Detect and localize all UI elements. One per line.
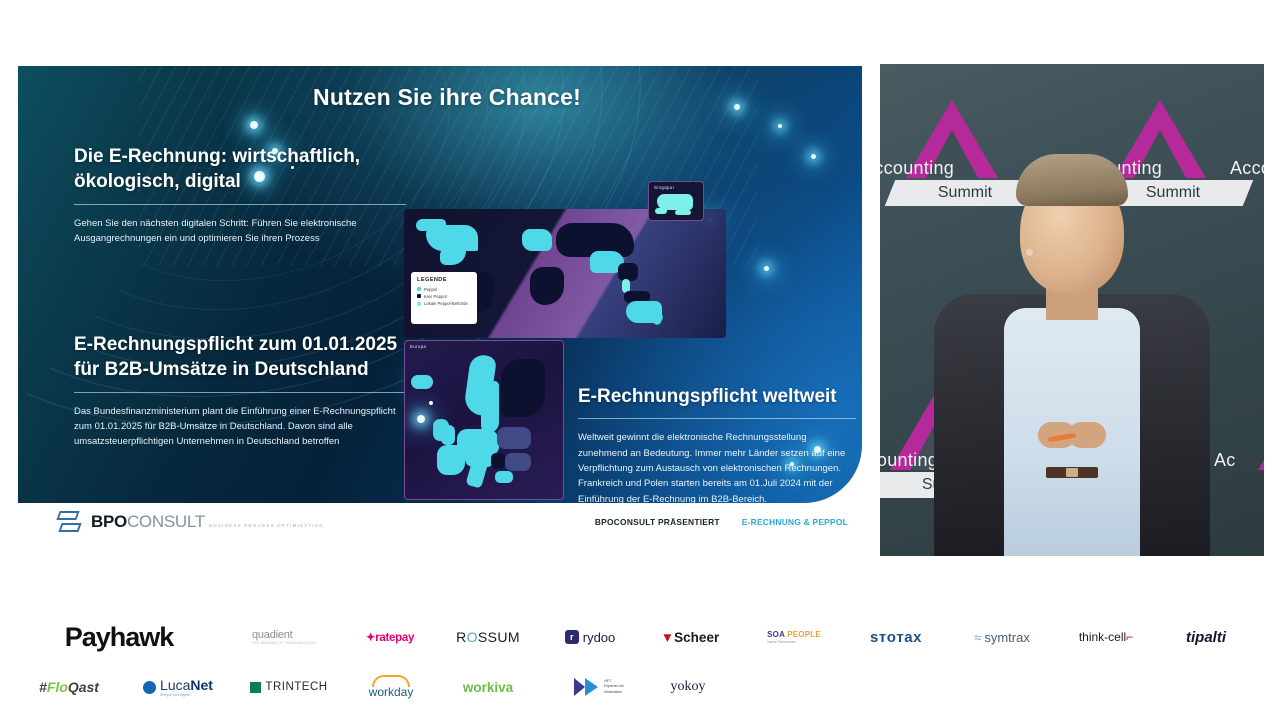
thinkcell-mark-icon: ⌐ — [1126, 630, 1133, 644]
map-label: Singapur — [654, 185, 674, 190]
scheer-mark-icon: ▼ — [661, 630, 674, 645]
glow-dot — [764, 266, 769, 271]
sponsor-label: tipalti — [1186, 629, 1226, 646]
sponsor-logo-workday[interactable]: workday — [342, 660, 440, 714]
block-heading: Die E-Rechnung: wirtschaftlich, ökologis… — [74, 144, 406, 195]
sponsor-label: think-cell — [1079, 630, 1126, 644]
slide-footer-meta: BPOCONSULT PRÄSENTIERT E-RECHNUNG & PEPP… — [595, 517, 848, 527]
accounting-summit-logo: Ac — [1220, 392, 1264, 502]
singapore-inset-map: Singapur — [648, 181, 704, 221]
block-heading: E-Rechnungspflicht weltweit — [578, 384, 856, 409]
sponsor-label: rydoo — [583, 630, 616, 645]
sponsor-sublabel: THE MEANING OF COMMUNICATION — [252, 641, 316, 645]
sponsor-logo-tipalti[interactable]: tipalti — [1158, 610, 1254, 664]
backdrop-brand-line1: Accounting — [1230, 158, 1264, 179]
sponsor-logo-think-cell[interactable]: think-cell⌐ — [1056, 610, 1156, 664]
sponsor-logo-payhawk[interactable]: Payhawk — [44, 610, 194, 664]
backdrop-brand-line1: Accounting — [880, 158, 954, 179]
backdrop-brand-line1: Accounting — [880, 450, 938, 471]
rydoo-mark-icon: r — [565, 630, 579, 644]
speaker-hair — [1016, 154, 1128, 206]
block-body: Gehen Sie den nächsten digitalen Schritt… — [74, 216, 406, 247]
sponsor-logo-scheer[interactable]: ▼Scheer — [640, 610, 740, 664]
sponsor-label: workiva — [463, 680, 513, 695]
glow-dot — [250, 121, 258, 129]
backdrop-brand-line1: Ac — [1214, 450, 1236, 471]
sponsor-sublabel: Experten für — [604, 684, 624, 688]
sponsor-logo-rydoo[interactable]: r rydoo — [540, 610, 640, 664]
slide-block-wirtschaftlich: Die E-Rechnung: wirtschaftlich, ökologis… — [74, 144, 406, 246]
europe-inset-map: Europa — [404, 340, 564, 500]
symtrax-mark-icon: ≈ — [974, 630, 981, 645]
sponsor-sublabel: Information — [604, 690, 622, 694]
logo-tagline: BUSINESS PROCESS OPTIMIZATION — [209, 523, 324, 528]
bpoconsult-logo: BPOCONSULT BUSINESS PROCESS OPTIMIZATION — [58, 509, 324, 535]
sponsor-logo-floqast[interactable]: #FloQast — [14, 660, 124, 714]
map-label: Europa — [410, 344, 426, 349]
sponsor-logo-wall: Payhawk quadient THE MEANING OF COMMUNIC… — [0, 600, 1280, 720]
sponsor-label: sтoтax — [870, 629, 922, 646]
sponsor-label: SOA — [767, 630, 787, 639]
sponsor-row-2: #FloQast LucaNet Simply intelligent. TRI… — [0, 660, 1280, 714]
slide-block-erechnungspflicht-de: E-Rechnungspflicht zum 01.01.2025 für B2… — [74, 332, 406, 450]
divider — [578, 418, 856, 419]
glow-dot — [811, 154, 816, 159]
lucanet-mark-icon — [143, 681, 156, 694]
sponsor-logo-rossum[interactable]: ROSSUM — [440, 610, 536, 664]
presentation-slide: Nutzen Sie ihre Chance! Die E-Rechnung: … — [18, 66, 862, 556]
legend-label: Peppol — [424, 287, 437, 292]
legend-label: Lokale Peppol-Behörde — [424, 301, 468, 306]
sponsor-label: Qast — [68, 679, 99, 695]
legend-swatch-icon — [417, 294, 421, 298]
legend-item: Kein Peppol — [417, 294, 471, 299]
screen-root: Nutzen Sie ihre Chance! Die E-Rechnung: … — [0, 0, 1280, 720]
sponsor-label: workday — [369, 685, 414, 699]
legend-swatch-icon — [417, 287, 421, 291]
legend-item: Peppol — [417, 287, 471, 292]
slide-canvas: Nutzen Sie ihre Chance! Die E-Rechnung: … — [18, 66, 862, 503]
logo-text-secondary: CONSULT — [127, 512, 205, 531]
trintech-mark-icon — [250, 682, 261, 693]
sponsor-logo-yokoy[interactable]: yokoy — [640, 660, 736, 714]
sponsor-label-accent: Flo — [47, 679, 68, 695]
sponsor-row-1: Payhawk quadient THE MEANING OF COMMUNIC… — [0, 610, 1280, 664]
sponsor-label: yokoy — [671, 679, 706, 695]
divider — [74, 392, 406, 393]
accounting-summit-logo: Accounting — [1236, 100, 1264, 210]
sponsor-logo-trintech[interactable]: TRINTECH — [236, 660, 342, 714]
speaker-belt — [1046, 467, 1098, 478]
sponsor-sublabel: Simply intelligent. — [160, 693, 213, 697]
sponsor-logo-symtrax[interactable]: ≈symtrax — [950, 610, 1054, 664]
glow-dot — [734, 104, 740, 110]
presented-by-label: BPOCONSULT PRÄSENTIERT — [595, 517, 720, 527]
slide-footer: BPOCONSULT BUSINESS PROCESS OPTIMIZATION… — [18, 503, 862, 556]
sponsor-label-accent: O — [467, 629, 478, 645]
legend-item: Lokale Peppol-Behörde — [417, 301, 471, 306]
sponsor-logo-lucanet[interactable]: LucaNet Simply intelligent. — [118, 660, 238, 714]
sponsor-label: Luca — [160, 677, 190, 693]
hft-mark-icon — [574, 678, 600, 696]
bpoconsult-mark-icon — [58, 509, 84, 535]
slide-block-erechnungspflicht-weltweit: E-Rechnungspflicht weltweit Weltweit gew… — [578, 384, 856, 503]
sponsor-label: TRINTECH — [265, 681, 327, 693]
divider — [74, 204, 406, 205]
legend-label: Kein Peppol — [424, 294, 447, 299]
sponsor-label-tail: SSUM — [478, 629, 520, 645]
sponsor-label: R — [456, 629, 467, 645]
glow-dot — [778, 124, 782, 128]
sponsor-label-accent: PEOPLE — [787, 630, 821, 639]
block-body: Das Bundesfinanzministerium plant die Ei… — [74, 404, 406, 450]
block-body: Weltweit gewinnt die elektronische Rechn… — [578, 430, 856, 503]
sponsor-logo-stotax[interactable]: sтoтax — [848, 610, 944, 664]
slide-title: Nutzen Sie ihre Chance! — [282, 84, 612, 111]
lapel-microphone-icon — [1026, 249, 1033, 256]
summit-chevron-icon — [1258, 392, 1264, 470]
sponsor-logo-quadient[interactable]: quadient THE MEANING OF COMMUNICATION — [236, 610, 332, 664]
sponsor-label-accent: Net — [190, 677, 213, 693]
sponsor-label: symtrax — [984, 630, 1030, 645]
legend-swatch-icon — [417, 302, 421, 306]
sponsor-sublabel: Inspire Performance — [767, 640, 796, 644]
sponsor-logo-workiva[interactable]: workiva — [440, 660, 536, 714]
sponsor-label: quadient — [252, 629, 293, 641]
map-legend: LEGENDE Peppol Kein Peppol Lokale Peppol… — [411, 272, 477, 324]
topic-label: E-RECHNUNG & PEPPOL — [742, 517, 848, 527]
sponsor-label: HFT — [604, 679, 611, 683]
logo-text-primary: BPO — [91, 512, 127, 531]
speaker-video-panel[interactable]: Accounting Summit Accounting Summit Acco… — [880, 64, 1264, 556]
sponsor-label: Payhawk — [65, 622, 174, 653]
sponsor-label: Scheer — [674, 630, 719, 645]
floqast-hash-icon: # — [39, 679, 47, 695]
block-heading: E-Rechnungspflicht zum 01.01.2025 für B2… — [74, 332, 406, 383]
sponsor-logo-soa-people[interactable]: SOA PEOPLE Inspire Performance — [742, 610, 846, 664]
sponsor-logo-ratepay[interactable]: ✦ratepay — [342, 610, 438, 664]
legend-title: LEGENDE — [417, 277, 471, 283]
sponsor-label: ratepay — [375, 632, 414, 644]
ratepay-mark-icon: ✦ — [366, 632, 375, 644]
